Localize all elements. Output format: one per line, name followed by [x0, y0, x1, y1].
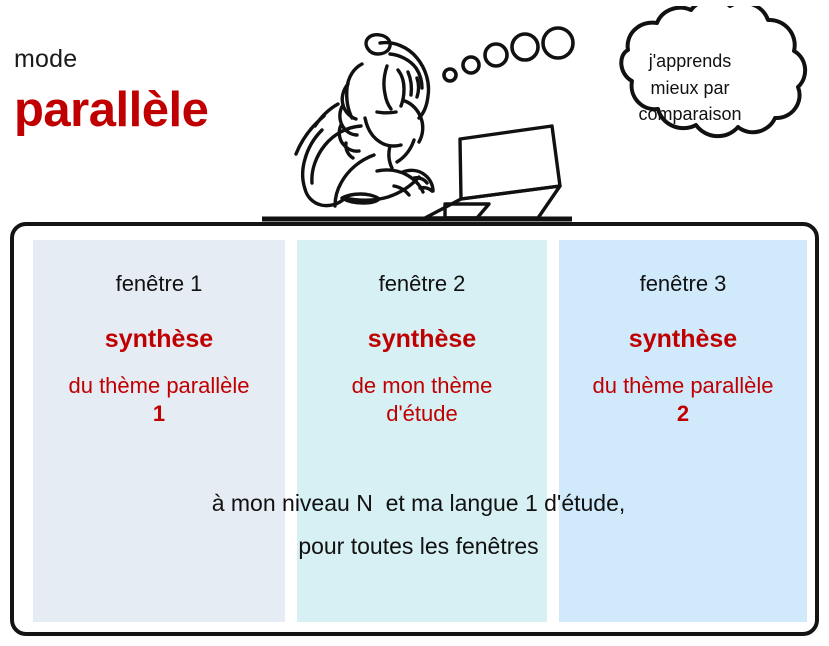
- window-1-number: 1: [153, 401, 165, 426]
- window-column-3[interactable]: fenêtre 3 synthèse du thème parallèle 2: [559, 240, 807, 622]
- window-2-subtitle-text: de mon thème: [352, 373, 493, 398]
- window-column-1[interactable]: fenêtre 1 synthèse du thème parallèle 1: [33, 240, 285, 622]
- window-1-synthesis: synthèse: [33, 327, 285, 352]
- page-title: parallèle: [14, 86, 208, 135]
- windows-panel: fenêtre 1 synthèse du thème parallèle 1 …: [10, 222, 819, 636]
- windows-columns: fenêtre 1 synthèse du thème parallèle 1 …: [14, 226, 815, 632]
- window-1-subtitle-text: du thème parallèle: [68, 373, 249, 398]
- window-column-2[interactable]: fenêtre 2 synthèse de mon thème d'étude: [297, 240, 547, 622]
- window-1-heading: fenêtre 1: [33, 273, 285, 295]
- window-3-heading: fenêtre 3: [559, 273, 807, 295]
- window-1-subtitle: du thème parallèle 1: [33, 372, 285, 428]
- window-3-subtitle: du thème parallèle 2: [559, 372, 807, 428]
- thought-bubble: j'apprends mieux par comparaison: [556, 6, 824, 171]
- window-2-subtitle: de mon thème d'étude: [297, 372, 547, 428]
- window-2-heading: fenêtre 2: [297, 273, 547, 295]
- mode-label: mode: [14, 47, 77, 72]
- window-3-subtitle-text: du thème parallèle: [592, 373, 773, 398]
- slide-root: mode parallèle: [0, 0, 829, 646]
- window-3-number: 2: [677, 401, 689, 426]
- window-2-number: d'étude: [386, 401, 458, 426]
- window-3-synthesis: synthèse: [559, 327, 807, 352]
- window-2-synthesis: synthèse: [297, 327, 547, 352]
